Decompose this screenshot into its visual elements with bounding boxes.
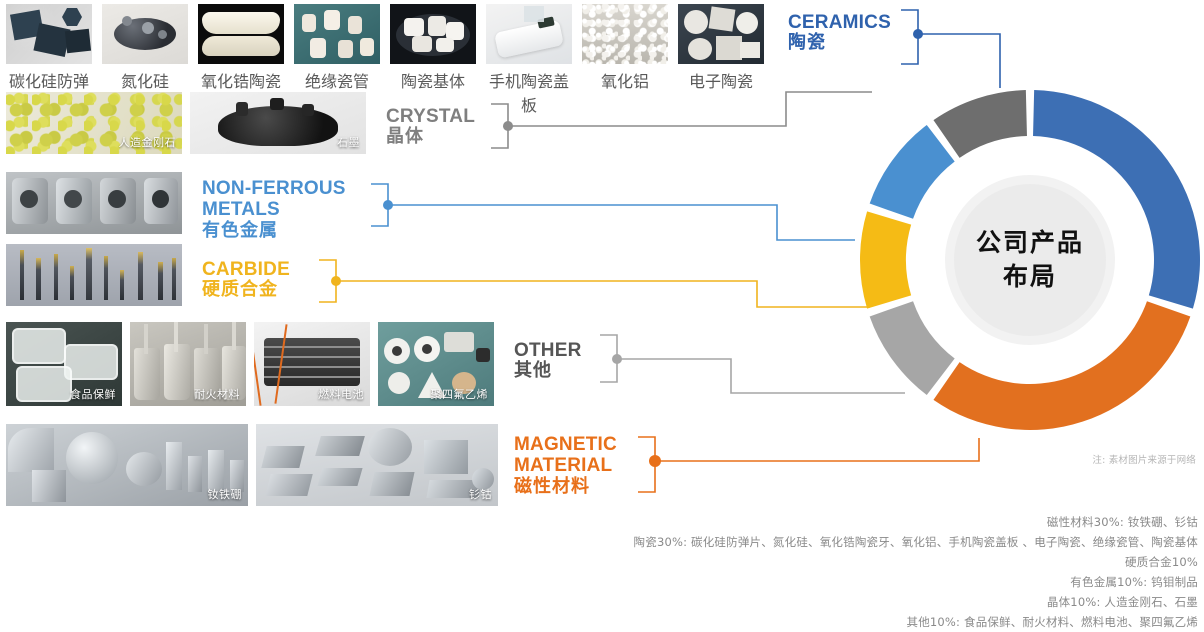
donut-center-label: 公司产品 布局 [954, 184, 1106, 336]
category-cn: 磁性材料 [514, 477, 617, 497]
source-note: 注: 素材图片来源于网络 [1092, 452, 1196, 466]
legend-item: 有色金属10%: 钨钼制品 [498, 572, 1198, 592]
thumb-image [198, 4, 284, 64]
donut-hub: 公司产品 布局 [936, 166, 1124, 354]
category-en-line2: MATERIAL [514, 455, 617, 476]
thumb-ceramics-0 [6, 4, 92, 64]
category-en: CERAMICS [788, 12, 891, 33]
thumb-ceramics-6 [582, 4, 668, 64]
thumb-caption-overlay: 钐钴 [469, 486, 492, 502]
donut-segment-other[interactable] [870, 301, 955, 395]
thumb-caption-overlay: 聚四氟乙烯 [431, 386, 489, 402]
node-crystal [503, 121, 513, 131]
category-label-ceramics[interactable]: CERAMICS 陶瓷 [788, 12, 891, 53]
category-cn: 硬质合金 [202, 280, 290, 300]
donut-segment-non-ferrous-metals[interactable] [870, 125, 955, 219]
thumb-other-1: 耐火材料 [130, 322, 246, 406]
node-other [612, 354, 622, 364]
node-nonferrous [383, 200, 393, 210]
legend-item: 陶瓷30%: 碳化硅防弹片、氮化硅、氧化锆陶瓷牙、氧化铝、手机陶瓷盖板 、电子陶… [498, 532, 1198, 552]
thumb-ceramics-3 [294, 4, 380, 64]
thumb-crystal-1: 石墨 [190, 92, 366, 154]
thumb-ceramics-1 [102, 4, 188, 64]
thumb-ceramics-7 [678, 4, 764, 64]
category-cn: 有色金属 [202, 221, 346, 241]
thumb-ceramics-2 [198, 4, 284, 64]
legend-item: 其他10%: 食品保鲜、耐火材料、燃料电池、聚四氟乙烯 [498, 612, 1198, 632]
node-magnetic [649, 455, 661, 467]
thumb-image [678, 4, 764, 64]
donut-segment-crystal[interactable] [933, 90, 1027, 158]
category-cn: 陶瓷 [788, 33, 891, 53]
thumb-nonferrous-0 [6, 172, 182, 234]
thumb-caption-overlay: 食品保鲜 [70, 386, 116, 402]
thumb-caption: 陶瓷基体 [390, 68, 476, 92]
thumb-image [6, 4, 92, 64]
legend-list: 磁性材料30%: 钕铁硼、钐钴陶瓷30%: 碳化硅防弹片、氮化硅、氧化锆陶瓷牙、… [498, 512, 1198, 632]
thumb-other-2: 燃料电池 [254, 322, 370, 406]
thumb-ceramics-5 [486, 4, 572, 64]
donut-segment-carbide[interactable] [860, 211, 911, 308]
thumb-image [582, 4, 668, 64]
thumb-caption-overlay: 燃料电池 [318, 386, 364, 402]
node-ceramics [913, 29, 923, 39]
thumb-caption: 氮化硅 [102, 68, 188, 92]
thumb-image [102, 4, 188, 64]
category-label-crystal[interactable]: CRYSTAL 晶体 [386, 106, 475, 147]
legend-item: 磁性材料30%: 钕铁硼、钐钴 [498, 512, 1198, 532]
thumb-image [6, 172, 182, 234]
thumb-crystal-0: 人造金刚石 [6, 92, 182, 154]
thumb-caption-overlay: 人造金刚石 [119, 134, 177, 150]
category-cn: 其他 [514, 361, 582, 381]
category-label-other[interactable]: OTHER 其他 [514, 340, 582, 381]
thumb-caption: 绝缘瓷管 [294, 68, 380, 92]
thumb-magnetic-0: 钕铁硼 [6, 424, 248, 506]
thumb-caption: 手机陶瓷盖板 [486, 68, 572, 116]
category-cn: 晶体 [386, 127, 475, 147]
donut-chart[interactable]: 公司产品 布局 [856, 86, 1204, 434]
thumb-caption-overlay: 耐火材料 [194, 386, 240, 402]
thumb-caption: 氧化铝 [582, 68, 668, 92]
category-label-magnetic[interactable]: MAGNETIC MATERIAL 磁性材料 [514, 434, 617, 497]
category-en-line1: MAGNETIC [514, 434, 617, 455]
node-carbide [331, 276, 341, 286]
thumb-other-3: 聚四氟乙烯 [378, 322, 494, 406]
thumb-caption-overlay: 石墨 [337, 134, 360, 150]
thumb-image [6, 244, 182, 306]
category-en-line1: NON-FERROUS [202, 178, 346, 199]
thumb-image [294, 4, 380, 64]
center-line-2: 布局 [1003, 260, 1057, 295]
legend-item: 硬质合金10% [498, 552, 1198, 572]
category-en: CRYSTAL [386, 106, 475, 127]
category-label-carbide[interactable]: CARBIDE 硬质合金 [202, 259, 290, 300]
category-label-nonferrous[interactable]: NON-FERROUS METALS 有色金属 [202, 178, 346, 241]
thumb-image [256, 424, 498, 506]
thumb-image [486, 4, 572, 64]
thumb-caption-overlay: 钕铁硼 [208, 486, 243, 502]
thumb-carbide-0 [6, 244, 182, 306]
thumb-ceramics-4 [390, 4, 476, 64]
category-en-line2: METALS [202, 199, 346, 220]
thumb-caption: 电子陶瓷 [678, 68, 764, 92]
category-en: OTHER [514, 340, 582, 361]
legend-item: 晶体10%: 人造金刚石、石墨 [498, 592, 1198, 612]
thumb-other-0: 食品保鲜 [6, 322, 122, 406]
thumb-image [390, 4, 476, 64]
thumb-magnetic-1: 钐钴 [256, 424, 498, 506]
category-en: CARBIDE [202, 259, 290, 280]
center-line-1: 公司产品 [976, 226, 1084, 261]
